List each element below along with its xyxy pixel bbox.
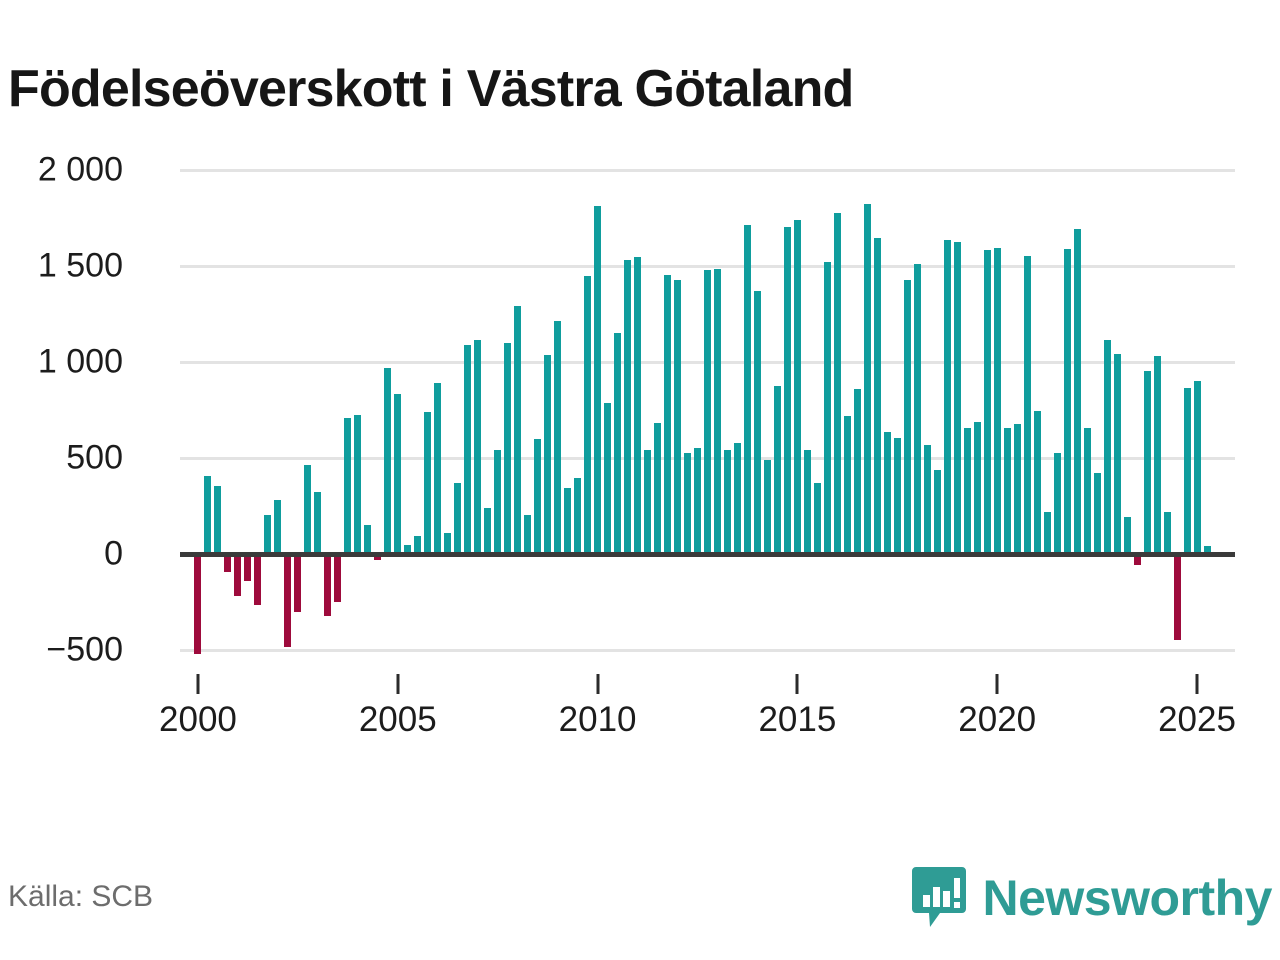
bar — [304, 465, 311, 554]
bar — [924, 445, 931, 555]
bar — [1034, 411, 1041, 554]
bar — [834, 213, 841, 554]
bar — [1154, 356, 1161, 554]
bar — [424, 412, 431, 554]
bar — [324, 554, 331, 616]
bar — [444, 533, 451, 554]
x-axis-tick — [1196, 674, 1199, 694]
bar — [904, 280, 911, 555]
bar — [594, 206, 601, 555]
x-axis-tick — [596, 674, 599, 694]
bar — [784, 227, 791, 555]
bar — [804, 450, 811, 555]
bar — [214, 486, 221, 554]
y-axis-tick-label: 500 — [66, 439, 123, 478]
bar — [674, 280, 681, 555]
bar — [264, 515, 271, 554]
x-axis-tick — [796, 674, 799, 694]
bar — [384, 368, 391, 554]
bar — [514, 306, 521, 554]
bar — [974, 422, 981, 555]
bar — [534, 439, 541, 554]
bar — [574, 478, 581, 554]
bar — [914, 264, 921, 554]
y-axis-tick-label: 1 000 — [38, 343, 123, 382]
y-axis-tick-label: −500 — [46, 631, 123, 670]
bar — [254, 554, 261, 605]
bar — [474, 340, 481, 554]
bar — [814, 483, 821, 554]
x-axis-tick-label: 2000 — [159, 700, 237, 740]
bar — [544, 355, 551, 555]
bar — [874, 238, 881, 554]
bar — [794, 220, 801, 554]
bar — [234, 554, 241, 595]
bar — [504, 343, 511, 554]
bar — [654, 423, 661, 555]
bar — [694, 448, 701, 555]
bar — [884, 432, 891, 554]
bar-chart-speech-bubble-icon — [910, 865, 968, 931]
bar — [984, 250, 991, 555]
bar — [844, 416, 851, 554]
bar — [524, 515, 531, 554]
x-axis-tick — [996, 674, 999, 694]
bar — [494, 450, 501, 555]
bar — [1024, 256, 1031, 555]
bar — [1074, 229, 1081, 555]
bar — [734, 443, 741, 554]
bar — [1114, 354, 1121, 555]
newsworthy-logo: Newsworthy — [910, 862, 1272, 934]
page-title: Födelseöverskott i Västra Götaland — [8, 61, 854, 118]
x-axis-tick-label: 2005 — [359, 700, 437, 740]
bar — [1044, 512, 1051, 554]
bar — [354, 415, 361, 554]
x-axis-tick — [196, 674, 199, 694]
bar — [394, 394, 401, 554]
bar — [964, 428, 971, 554]
bar — [754, 291, 761, 554]
bar — [274, 500, 281, 555]
bar — [894, 438, 901, 554]
bar — [284, 554, 291, 646]
bar — [664, 275, 671, 555]
bar — [954, 242, 961, 554]
bar — [614, 333, 621, 554]
bar — [364, 525, 371, 555]
bar — [1184, 388, 1191, 554]
bar — [604, 403, 611, 555]
bar — [724, 450, 731, 555]
bar — [464, 345, 471, 554]
bar — [1164, 512, 1171, 554]
bar — [1104, 340, 1111, 554]
bar — [1124, 517, 1131, 554]
bars-group — [180, 170, 1235, 662]
x-axis-tick-label: 2010 — [559, 700, 637, 740]
x-axis: 200020052010201520202025 — [180, 662, 1235, 752]
bar — [1094, 473, 1101, 555]
bar — [744, 225, 751, 555]
bar — [434, 383, 441, 554]
bar — [934, 470, 941, 555]
bar — [1084, 428, 1091, 555]
x-axis-tick-label: 2020 — [958, 700, 1036, 740]
bar — [584, 276, 591, 555]
y-axis-tick-label: 2 000 — [38, 151, 123, 190]
bar — [1174, 554, 1181, 640]
bar — [204, 476, 211, 555]
bar — [294, 554, 301, 612]
x-axis-tick-label: 2025 — [1158, 700, 1236, 740]
bar — [454, 483, 461, 554]
bar — [1194, 381, 1201, 554]
chart-page: Födelseöverskott i Västra Götaland 2 000… — [0, 0, 1280, 960]
bar — [554, 321, 561, 555]
bar — [624, 260, 631, 554]
x-axis-tick-label: 2015 — [758, 700, 836, 740]
x-axis-tick — [396, 674, 399, 694]
source-label: Källa: SCB — [8, 880, 153, 914]
plot-area: 2 0001 5001 0005000−500 — [180, 170, 1235, 662]
bar — [244, 554, 251, 581]
bar — [194, 554, 201, 654]
bar — [854, 389, 861, 554]
bar — [344, 418, 351, 554]
bar — [314, 492, 321, 554]
bar — [824, 262, 831, 554]
bar — [334, 554, 341, 602]
bar — [714, 269, 721, 554]
bar — [944, 240, 951, 554]
bar — [704, 270, 711, 554]
bar — [1064, 249, 1071, 555]
bar — [634, 257, 641, 554]
bar — [644, 450, 651, 555]
bar — [774, 386, 781, 554]
zero-line — [180, 552, 1235, 557]
bar — [1144, 371, 1151, 555]
bar — [1004, 428, 1011, 554]
bar — [1014, 424, 1021, 555]
logo-wordmark: Newsworthy — [982, 873, 1272, 923]
bar — [764, 460, 771, 554]
bar — [864, 204, 871, 555]
bar — [684, 453, 691, 554]
bar — [994, 248, 1001, 555]
y-axis-tick-label: 1 500 — [38, 247, 123, 286]
bar — [1054, 453, 1061, 555]
bar — [564, 488, 571, 554]
y-axis-tick-label: 0 — [104, 535, 123, 574]
bar — [484, 508, 491, 554]
